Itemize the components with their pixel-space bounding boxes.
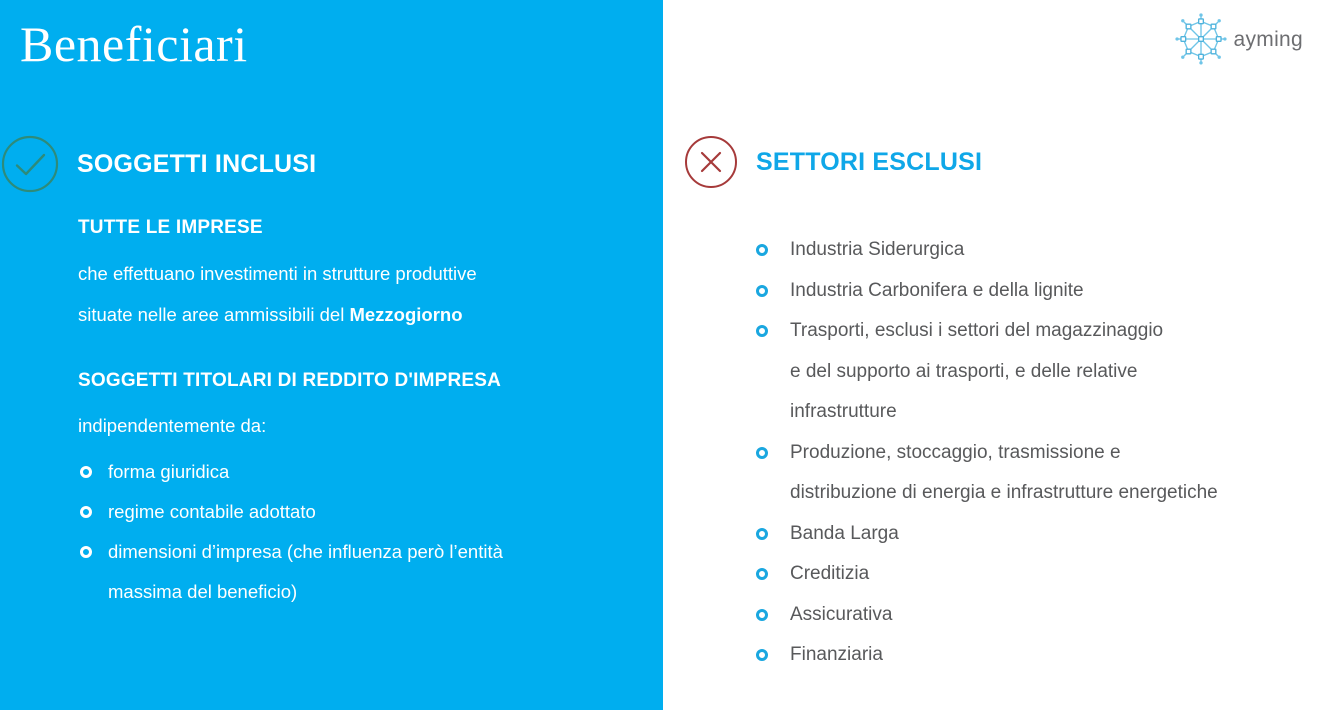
section-header-excluded: SETTORI ESCLUSI [682,133,982,191]
ring-bullet-icon [80,506,92,518]
sub-heading-all-companies: TUTTE LE IMPRESE [78,216,638,241]
list-item: forma giuridica [78,452,638,492]
list-item-line: e del supporto ai trasporti, e delle rel… [790,352,1312,393]
body-text: indipendentemente da: [78,415,266,436]
list-item-line: Assicurativa [790,595,1312,636]
sub-heading-business-income: SOGGETTI TITOLARI DI REDDITO D'IMPRESA [78,369,638,394]
presentation-slide: Beneficiari [0,0,1327,710]
list-item: Creditizia [752,554,1312,595]
ring-bullet-icon [756,325,768,337]
list-item-line: Trasporti, esclusi i settori del magazzi… [790,311,1312,352]
body-line: situate nelle aree ammissibili del Mezzo… [78,294,638,335]
list-item: Assicurativa [752,595,1312,636]
list-item-line: Creditizia [790,554,1312,595]
list-item-line: Produzione, stoccaggio, trasmissione e [790,433,1312,474]
body-text: che effettuano investimenti in strutture… [78,263,477,284]
list-item: Industria Siderurgica [752,230,1312,271]
section-header-included: SOGGETTI INCLUSI [0,133,316,195]
list-item-line: Finanziaria [790,635,1312,676]
ring-bullet-icon [756,649,768,661]
logo-wordmark: ayming [1234,29,1304,50]
brand-logo: ayming [1175,13,1304,65]
x-circle-icon [682,133,740,191]
excluded-bullet-list: Industria Siderurgica Industria Carbonif… [752,230,1312,676]
ring-bullet-icon [756,528,768,540]
list-item-line: dimensioni d’impresa (che influenza però… [108,532,638,572]
list-item: Finanziaria [752,635,1312,676]
ring-bullet-icon [756,244,768,256]
page-title: Beneficiari [20,14,248,74]
list-item: regime contabile adottato [78,492,638,532]
list-item-line: regime contabile adottato [108,492,638,532]
list-item-line: Industria Siderurgica [790,230,1312,271]
ring-bullet-icon [756,447,768,459]
body-text: situate nelle aree ammissibili del [78,304,349,325]
body-line: indipendentemente da: [78,405,638,446]
ring-bullet-icon [756,568,768,580]
list-item-line: Banda Larga [790,514,1312,555]
list-item: Trasporti, esclusi i settori del magazzi… [752,311,1312,433]
list-item-line: forma giuridica [108,452,638,492]
list-item-line: distribuzione di energia e infrastruttur… [790,473,1312,514]
included-bullet-list: forma giuridica regime contabile adottat… [78,452,638,612]
list-item: Industria Carbonifera e della lignite [752,271,1312,312]
network-nodes-icon [1175,13,1227,65]
included-group-1: TUTTE LE IMPRESE che effettuano investim… [78,216,638,335]
section-title-excluded: SETTORI ESCLUSI [756,148,982,177]
body-line: che effettuano investimenti in strutture… [78,253,638,294]
included-group-2: SOGGETTI TITOLARI DI REDDITO D'IMPRESA i… [78,369,638,613]
ring-bullet-icon [756,609,768,621]
ring-bullet-icon [756,285,768,297]
list-item: dimensioni d’impresa (che influenza però… [78,532,638,612]
section-title-included: SOGGETTI INCLUSI [77,150,316,179]
ring-bullet-icon [80,546,92,558]
spacer [78,335,638,369]
ring-bullet-icon [80,466,92,478]
list-item-line: massima del beneficio) [108,572,638,612]
list-item: Banda Larga [752,514,1312,555]
excluded-content: Industria Siderurgica Industria Carbonif… [752,224,1312,676]
check-circle-icon [0,133,61,195]
list-item: Produzione, stoccaggio, trasmissione e d… [752,433,1312,514]
list-item-line: Industria Carbonifera e della lignite [790,271,1312,312]
included-content: TUTTE LE IMPRESE che effettuano investim… [78,216,638,612]
highlight-mezzogiorno: Mezzogiorno [349,304,462,325]
list-item-line: infrastrutture [790,392,1312,433]
